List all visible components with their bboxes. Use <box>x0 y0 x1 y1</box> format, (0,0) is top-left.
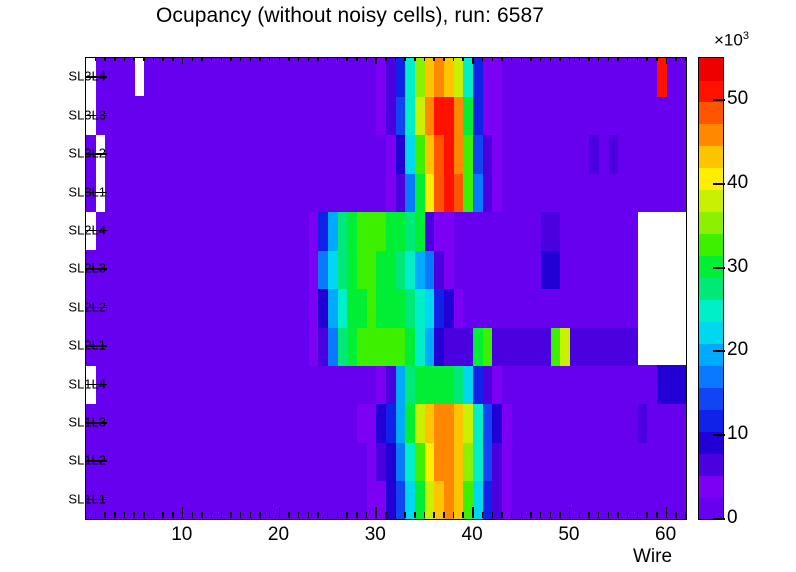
x-axis-tick-top <box>182 57 184 64</box>
x-axis-tick <box>492 512 494 518</box>
x-axis-tick-top <box>550 57 552 61</box>
x-axis-tick <box>482 512 484 518</box>
x-axis-tick <box>133 512 135 518</box>
x-axis-tick <box>666 507 668 518</box>
y-axis-tick <box>85 384 107 386</box>
color-scale-tick <box>713 267 725 269</box>
x-axis-tick-top <box>172 57 174 61</box>
x-axis-tick-top <box>627 57 629 61</box>
x-axis-label: 30 <box>365 524 386 546</box>
x-axis-tick-top <box>288 57 290 61</box>
y-axis-tick <box>85 307 107 309</box>
x-axis-tick <box>501 512 503 518</box>
x-axis-tick <box>327 512 329 518</box>
x-axis-tick-top <box>530 57 532 61</box>
x-axis-tick-top <box>211 57 213 61</box>
x-axis-tick-top <box>637 57 639 61</box>
x-axis-tick <box>375 507 377 518</box>
x-axis-tick-top <box>240 57 242 61</box>
color-scale-band <box>699 299 723 322</box>
y-axis-tick <box>85 115 107 117</box>
x-axis-tick <box>192 512 194 518</box>
color-scale-band <box>699 321 723 344</box>
x-axis-tick <box>269 512 271 518</box>
x-axis-tick <box>279 507 281 518</box>
y-axis-tick <box>85 499 107 501</box>
heatmap-cell <box>125 58 135 97</box>
x-axis-tick-top <box>124 57 126 61</box>
x-axis-tick <box>462 512 464 518</box>
color-scale-band <box>699 387 723 410</box>
x-axis-tick <box>114 512 116 518</box>
x-axis-tick-top <box>598 57 600 61</box>
x-axis-tick-top <box>308 57 310 61</box>
color-scale-band <box>699 168 723 191</box>
heatmap-cell <box>676 404 686 443</box>
x-axis-label: 10 <box>171 524 192 546</box>
y-axis-tick <box>85 153 107 155</box>
color-scale-band <box>699 58 723 81</box>
y-axis-tick <box>85 76 107 78</box>
x-axis-tick <box>424 512 426 518</box>
x-axis-tick-top <box>579 57 581 61</box>
x-axis-tick-top <box>559 57 561 61</box>
y-axis-tick <box>85 460 107 462</box>
x-axis-tick-top <box>685 57 687 61</box>
color-scale-label: 20 <box>727 339 748 361</box>
x-axis-tick-top <box>433 57 435 61</box>
x-axis-tick <box>240 512 242 518</box>
color-scale-label: 50 <box>727 88 748 110</box>
x-axis-tick-top <box>482 57 484 61</box>
x-axis-tick <box>646 512 648 518</box>
x-axis-tick-top <box>298 57 300 61</box>
x-axis-tick-top <box>250 57 252 61</box>
x-axis-tick <box>259 512 261 518</box>
x-axis-tick <box>472 507 474 518</box>
x-axis-tick <box>414 512 416 518</box>
x-axis-tick <box>385 512 387 518</box>
x-axis-tick <box>288 512 290 518</box>
color-scale-band <box>699 497 723 520</box>
heatmap-cell <box>628 327 638 366</box>
x-axis-tick-top <box>221 57 223 61</box>
x-axis-tick <box>124 512 126 518</box>
x-axis-tick-top <box>501 57 503 61</box>
x-axis-tick <box>540 512 542 518</box>
x-axis-tick <box>521 512 523 518</box>
x-axis-tick <box>221 512 223 518</box>
x-axis-tick-top <box>269 57 271 61</box>
x-axis-tick <box>579 512 581 518</box>
x-axis-tick <box>550 512 552 518</box>
x-axis-tick-top <box>337 57 339 61</box>
x-axis-tick-top <box>540 57 542 61</box>
x-axis-tick <box>366 512 368 518</box>
color-scale-bar[interactable] <box>698 57 724 520</box>
x-axis-tick-top <box>424 57 426 61</box>
x-axis-tick-top <box>675 57 677 61</box>
color-scale-band <box>699 234 723 257</box>
x-axis-tick-top <box>279 57 281 64</box>
x-axis-tick-top <box>327 57 329 61</box>
x-axis-tick-top <box>395 57 397 61</box>
x-axis-tick-top <box>646 57 648 61</box>
heatmap-cell <box>628 289 638 328</box>
x-axis-tick-top <box>143 57 145 61</box>
y-axis-tick <box>85 422 107 424</box>
color-scale-tick <box>713 99 725 101</box>
color-scale-tick <box>713 434 725 436</box>
color-scale-tick <box>713 350 725 352</box>
heatmap-cell <box>628 250 638 289</box>
x-axis-tick <box>656 512 658 518</box>
x-axis-tick <box>559 512 561 518</box>
heatmap-cell <box>676 96 686 135</box>
color-scale-band <box>699 409 723 432</box>
color-scale-band <box>699 343 723 366</box>
x-axis-label: 20 <box>268 524 289 546</box>
x-axis-tick <box>95 512 97 518</box>
color-scale-band <box>699 190 723 213</box>
x-axis-tick-top <box>453 57 455 61</box>
x-axis-tick <box>569 507 571 518</box>
x-axis-tick-top <box>201 57 203 61</box>
color-scale-band <box>699 453 723 476</box>
x-axis-tick-top <box>317 57 319 61</box>
color-scale-band <box>699 365 723 388</box>
x-axis-tick <box>172 512 174 518</box>
x-axis-tick <box>104 512 106 518</box>
x-axis-tick <box>433 512 435 518</box>
x-axis-tick-top <box>462 57 464 61</box>
x-axis-tick-top <box>492 57 494 61</box>
y-axis-tick <box>85 345 107 347</box>
x-axis-tick-top <box>608 57 610 61</box>
x-axis-title: Wire <box>633 546 672 568</box>
x-axis-tick <box>685 512 687 518</box>
heatmap-cell <box>628 212 638 251</box>
color-scale-label: 10 <box>727 423 748 445</box>
x-axis-tick <box>395 512 397 518</box>
x-axis-tick-top <box>356 57 358 61</box>
heatmap-cell <box>676 442 686 481</box>
x-axis-tick-top <box>472 57 474 64</box>
color-scale-label: 40 <box>727 172 748 194</box>
x-axis-tick-top <box>617 57 619 61</box>
x-axis-tick-top <box>404 57 406 61</box>
x-axis-tick-top <box>656 57 658 61</box>
color-scale-multiplier: ×103 <box>714 30 749 51</box>
x-axis-tick <box>588 512 590 518</box>
color-scale-tick <box>713 183 725 185</box>
x-axis-tick-top <box>192 57 194 61</box>
x-axis-tick-top <box>569 57 571 64</box>
x-axis-tick-top <box>230 57 232 61</box>
x-axis-tick-top <box>259 57 261 61</box>
y-axis-tick <box>85 268 107 270</box>
x-axis-tick <box>356 512 358 518</box>
x-axis-tick <box>337 512 339 518</box>
color-scale-band <box>699 102 723 125</box>
x-axis-tick <box>346 512 348 518</box>
x-axis-tick <box>162 512 164 518</box>
x-axis-tick <box>250 512 252 518</box>
heatmap-cell <box>676 58 686 97</box>
color-scale-band <box>699 124 723 147</box>
color-scale-band <box>699 278 723 301</box>
x-axis-tick-top <box>385 57 387 61</box>
x-axis-tick-top <box>588 57 590 61</box>
x-axis-label: 50 <box>558 524 579 546</box>
y-axis-tick <box>85 192 107 194</box>
x-axis-tick <box>608 512 610 518</box>
color-scale-band <box>699 146 723 169</box>
x-axis-tick-top <box>133 57 135 61</box>
x-axis-tick <box>598 512 600 518</box>
x-axis-tick <box>230 512 232 518</box>
color-scale-band <box>699 212 723 235</box>
x-axis-tick <box>637 512 639 518</box>
x-axis-tick <box>143 512 145 518</box>
x-axis-tick <box>182 507 184 518</box>
x-axis-tick-top <box>666 57 668 64</box>
x-axis-tick-top <box>366 57 368 61</box>
x-axis-tick <box>453 512 455 518</box>
x-axis-tick <box>443 512 445 518</box>
x-axis-tick <box>317 512 319 518</box>
heatmap-plot[interactable] <box>85 57 687 520</box>
x-axis-tick <box>627 512 629 518</box>
x-axis-tick <box>201 512 203 518</box>
x-axis-tick <box>153 512 155 518</box>
x-axis-label: 40 <box>462 524 483 546</box>
color-scale-label: 30 <box>727 256 748 278</box>
x-axis-tick <box>675 512 677 518</box>
heatmap-cell <box>676 365 686 404</box>
x-axis-tick-top <box>95 57 97 61</box>
x-axis-tick <box>617 512 619 518</box>
color-scale-label: 0 <box>727 507 738 529</box>
x-axis-tick-top <box>414 57 416 61</box>
x-axis-tick-top <box>443 57 445 61</box>
heatmap-cell <box>676 135 686 174</box>
x-axis-tick <box>308 512 310 518</box>
x-axis-tick-top <box>346 57 348 61</box>
root-canvas: Ocupancy (without noisy cells), run: 658… <box>0 0 796 572</box>
page-title: Ocupancy (without noisy cells), run: 658… <box>0 4 700 28</box>
heatmap-cells <box>86 58 686 519</box>
y-axis-tick <box>85 230 107 232</box>
x-axis-tick <box>298 512 300 518</box>
x-axis-tick-top <box>521 57 523 61</box>
x-axis-tick-top <box>375 57 377 64</box>
x-axis-tick <box>530 512 532 518</box>
x-axis-label: 60 <box>655 524 676 546</box>
x-axis-tick <box>404 512 406 518</box>
color-scale-tick <box>713 518 725 520</box>
x-axis-tick-top <box>114 57 116 61</box>
heatmap-cell <box>676 173 686 212</box>
color-scale-band <box>699 475 723 498</box>
x-axis-tick-top <box>511 57 513 61</box>
x-axis-tick <box>211 512 213 518</box>
x-axis-tick <box>511 512 513 518</box>
x-axis-tick-top <box>162 57 164 61</box>
x-axis-tick-top <box>153 57 155 61</box>
x-axis-tick-top <box>104 57 106 61</box>
